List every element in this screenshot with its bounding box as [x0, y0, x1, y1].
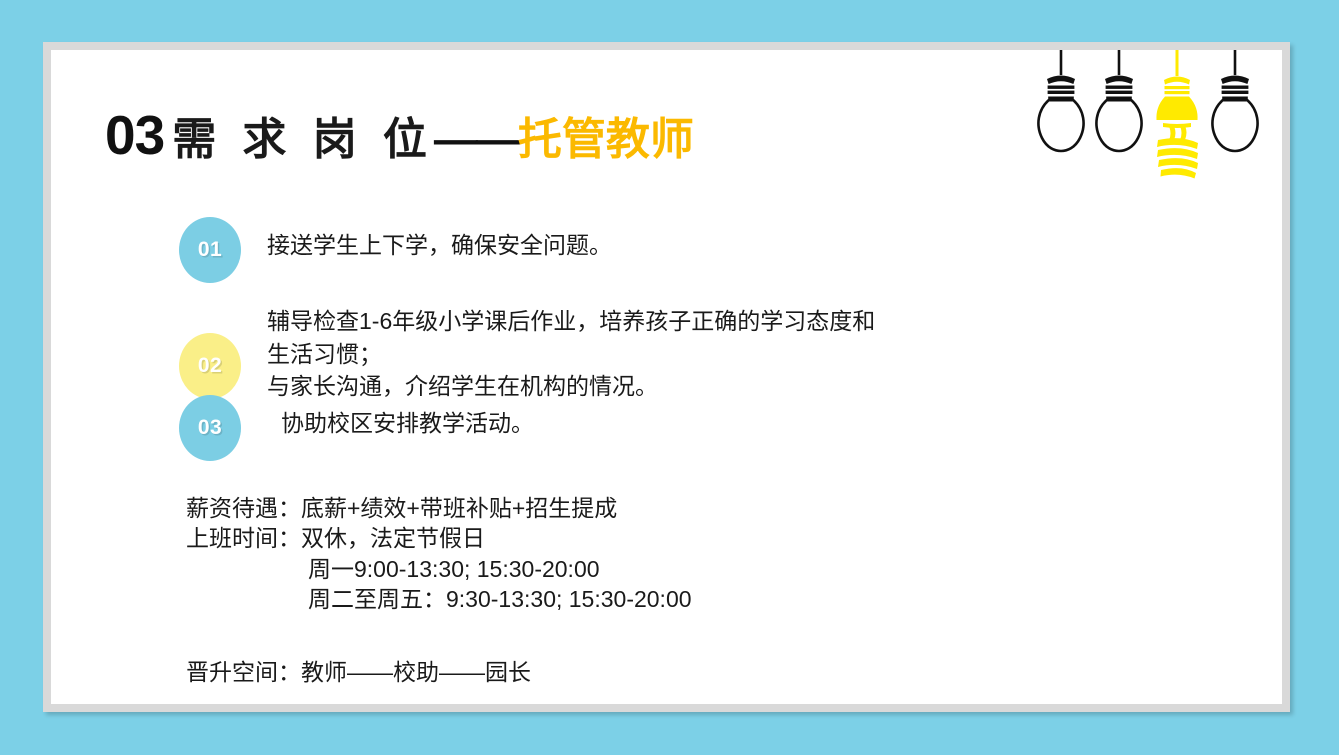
- duty-number-badge: 01: [179, 217, 241, 283]
- duty-number-badge: 02: [179, 333, 241, 399]
- title-accent-text: 托管教师: [518, 115, 694, 164]
- duty-text: 协助校区安排教学活动。: [281, 407, 534, 440]
- duty-text: 辅导检查1-6年级小学课后作业，培养孩子正确的学习态度和 生活习惯； 与家长沟通…: [267, 305, 875, 403]
- light-bulb-icon: [1096, 50, 1141, 151]
- duty-item: 01 接送学生上下学，确保安全问题。: [179, 217, 612, 283]
- duty-item: 02 辅导检查1-6年级小学课后作业，培养孩子正确的学习态度和 生活习惯； 与家…: [179, 305, 875, 403]
- title-main-text: 需 求 岗 位: [172, 115, 434, 164]
- promotion-path-line: 晋升空间：教师——校助——园长: [186, 653, 531, 687]
- schedule-tuesday-friday-line: 周二至周五：9:30-13:30; 15:30-20:00: [186, 584, 692, 614]
- duty-number-badge: 03: [179, 395, 241, 461]
- duty-item: 03 协助校区安排教学活动。: [179, 395, 534, 461]
- work-hours-line: 上班时间：双休，法定节假日: [186, 523, 692, 553]
- duty-text: 接送学生上下学，确保安全问题。: [267, 229, 612, 262]
- title-section-number: 03: [105, 104, 164, 166]
- light-bulb-lit-icon: [1156, 50, 1198, 179]
- slide-card: 03需 求 岗 位——托管教师: [51, 50, 1282, 704]
- salary-line: 薪资待遇：底薪+绩效+带班补贴+招生提成: [186, 493, 692, 523]
- page-title: 03需 求 岗 位——托管教师: [105, 108, 694, 163]
- light-bulb-icon: [1038, 50, 1083, 151]
- slide-frame: 03需 求 岗 位——托管教师: [43, 42, 1290, 712]
- light-bulb-icon: [1212, 50, 1257, 151]
- schedule-monday-line: 周一9:00-13:30; 15:30-20:00: [186, 554, 692, 584]
- light-bulbs-decoration: [1033, 50, 1268, 180]
- title-dash: ——: [434, 115, 518, 164]
- job-details-block: 薪资待遇：底薪+绩效+带班补贴+招生提成 上班时间：双休，法定节假日 周一9:0…: [186, 493, 692, 614]
